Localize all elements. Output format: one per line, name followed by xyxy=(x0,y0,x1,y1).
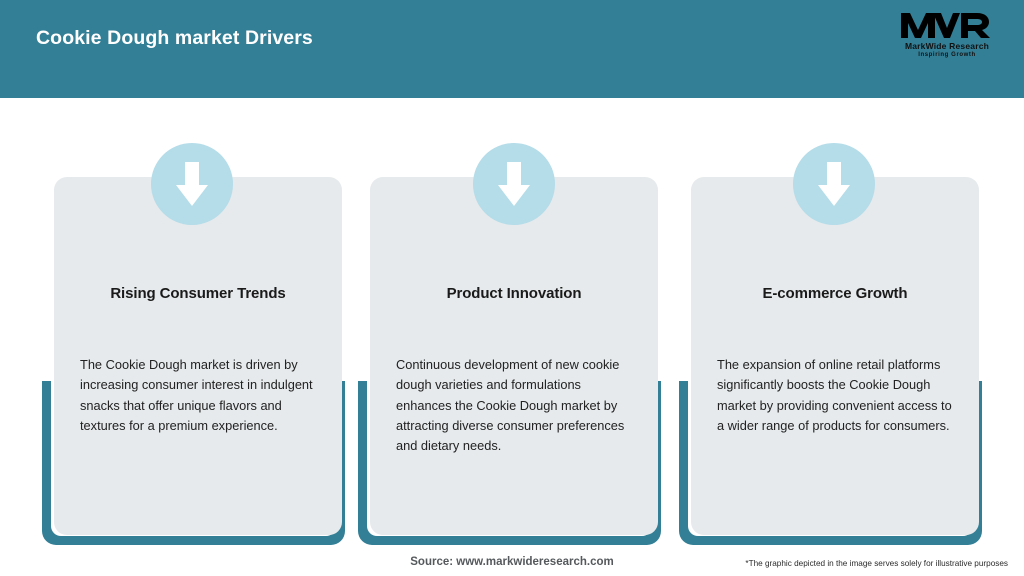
brand-logo: MarkWide Research Inspiring Growth xyxy=(892,10,1002,68)
driver-card-title: Product Innovation xyxy=(370,285,658,302)
down-arrow-icon xyxy=(473,143,555,225)
driver-card-2[interactable]: Product Innovation Continuous developmen… xyxy=(370,177,658,535)
driver-card-1[interactable]: Rising Consumer Trends The Cookie Dough … xyxy=(54,177,342,535)
mwr-logo-icon xyxy=(899,10,995,40)
driver-card-3[interactable]: E-commerce Growth The expansion of onlin… xyxy=(691,177,979,535)
logo-company-name: MarkWide Research xyxy=(892,41,1002,51)
driver-card-body: The Cookie Dough market is driven by inc… xyxy=(80,355,320,436)
logo-tagline: Inspiring Growth xyxy=(892,51,1002,59)
driver-card-body: Continuous development of new cookie dou… xyxy=(396,355,636,456)
down-arrow-icon xyxy=(151,143,233,225)
disclaimer-note: *The graphic depicted in the image serve… xyxy=(745,559,1008,568)
down-arrow-glyph xyxy=(151,143,233,225)
driver-card-title: E-commerce Growth xyxy=(691,285,979,302)
down-arrow-glyph xyxy=(793,143,875,225)
down-arrow-icon xyxy=(793,143,875,225)
page-title: Cookie Dough market Drivers xyxy=(36,27,313,50)
driver-card-title: Rising Consumer Trends xyxy=(54,285,342,302)
driver-card-body: The expansion of online retail platforms… xyxy=(717,355,957,436)
down-arrow-glyph xyxy=(473,143,555,225)
infographic-canvas: Cookie Dough market Drivers MarkWide Res… xyxy=(0,0,1024,576)
